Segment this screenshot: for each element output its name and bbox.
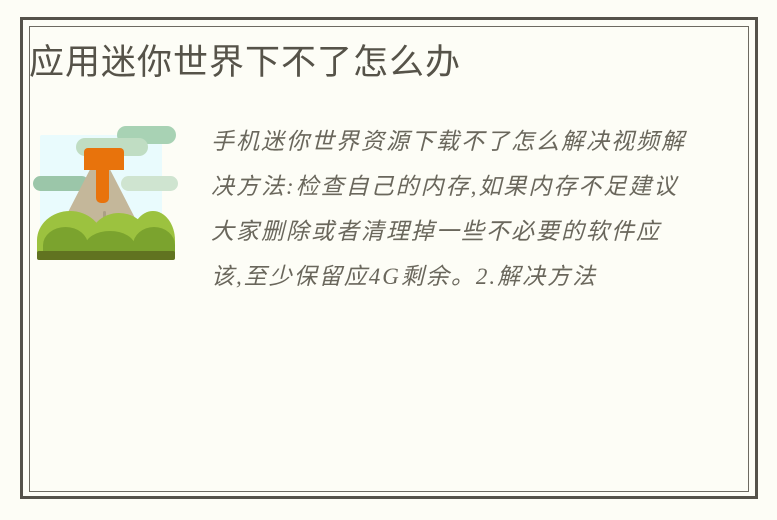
- article-excerpt: 手机迷你世界资源下载不了怎么解决视频解决方法:检查自己的内存,如果内存不足建议大…: [181, 119, 693, 299]
- volcano-illustration: [33, 123, 181, 273]
- article-card: 应用迷你世界下不了怎么办 手机迷你世界资源下载不了怎么解决视频解决方法:检查自己…: [0, 0, 777, 520]
- ground-strip: [37, 251, 175, 260]
- page-title: 应用迷你世界下不了怎么办: [29, 41, 461, 85]
- lava-flow: [96, 163, 109, 203]
- article-body: 手机迷你世界资源下载不了怎么解决视频解决方法:检查自己的内存,如果内存不足建议大…: [33, 119, 693, 299]
